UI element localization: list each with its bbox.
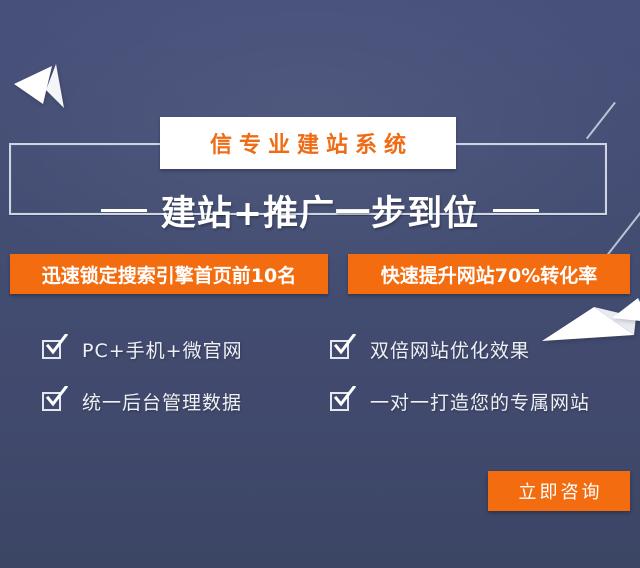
consult-now-label: 立即咨询 [516,478,603,504]
title-plate-text: 信专业建站系统 [203,127,413,159]
feature-list: PC+手机+微官网 统一后台管理数据 双倍网站优化效果 [0,326,640,432]
slogan-right-text: 快速提升网站70%转化率 [381,261,597,288]
promo-banner: 信专业建站系统 建站+推广一步到位 迅速锁定搜索引擎首页前10名 快速提升网站7… [0,0,640,568]
paper-plane-icon [12,60,74,114]
diagonal-line-decoration [586,102,616,139]
checkmark-icon [330,338,352,360]
headline-rule-left [101,209,147,212]
feature-label: 双倍网站优化效果 [370,336,530,363]
paper-plane-icon [612,296,640,330]
feature-item: 统一后台管理数据 [42,384,242,418]
feature-label: 统一后台管理数据 [82,388,242,415]
slogan-bar-left: 迅速锁定搜索引擎首页前10名 [10,254,328,294]
checkmark-icon [42,390,64,412]
feature-label: PC+手机+微官网 [82,336,243,363]
feature-item: PC+手机+微官网 [42,332,243,366]
headline-row: 建站+推广一步到位 [0,182,640,238]
slogan-left-text: 迅速锁定搜索引擎首页前10名 [42,261,296,288]
feature-label: 一对一打造您的专属网站 [370,388,590,415]
page-title: 建站+推广一步到位 [161,185,479,236]
checkmark-icon [42,338,64,360]
consult-now-button[interactable]: 立即咨询 [488,471,630,511]
checkmark-icon [330,390,352,412]
headline-rule-right [493,209,539,212]
title-plate: 信专业建站系统 [160,117,456,169]
slogan-bar-right: 快速提升网站70%转化率 [348,254,630,294]
feature-item: 双倍网站优化效果 [330,332,530,366]
feature-item: 一对一打造您的专属网站 [330,384,590,418]
